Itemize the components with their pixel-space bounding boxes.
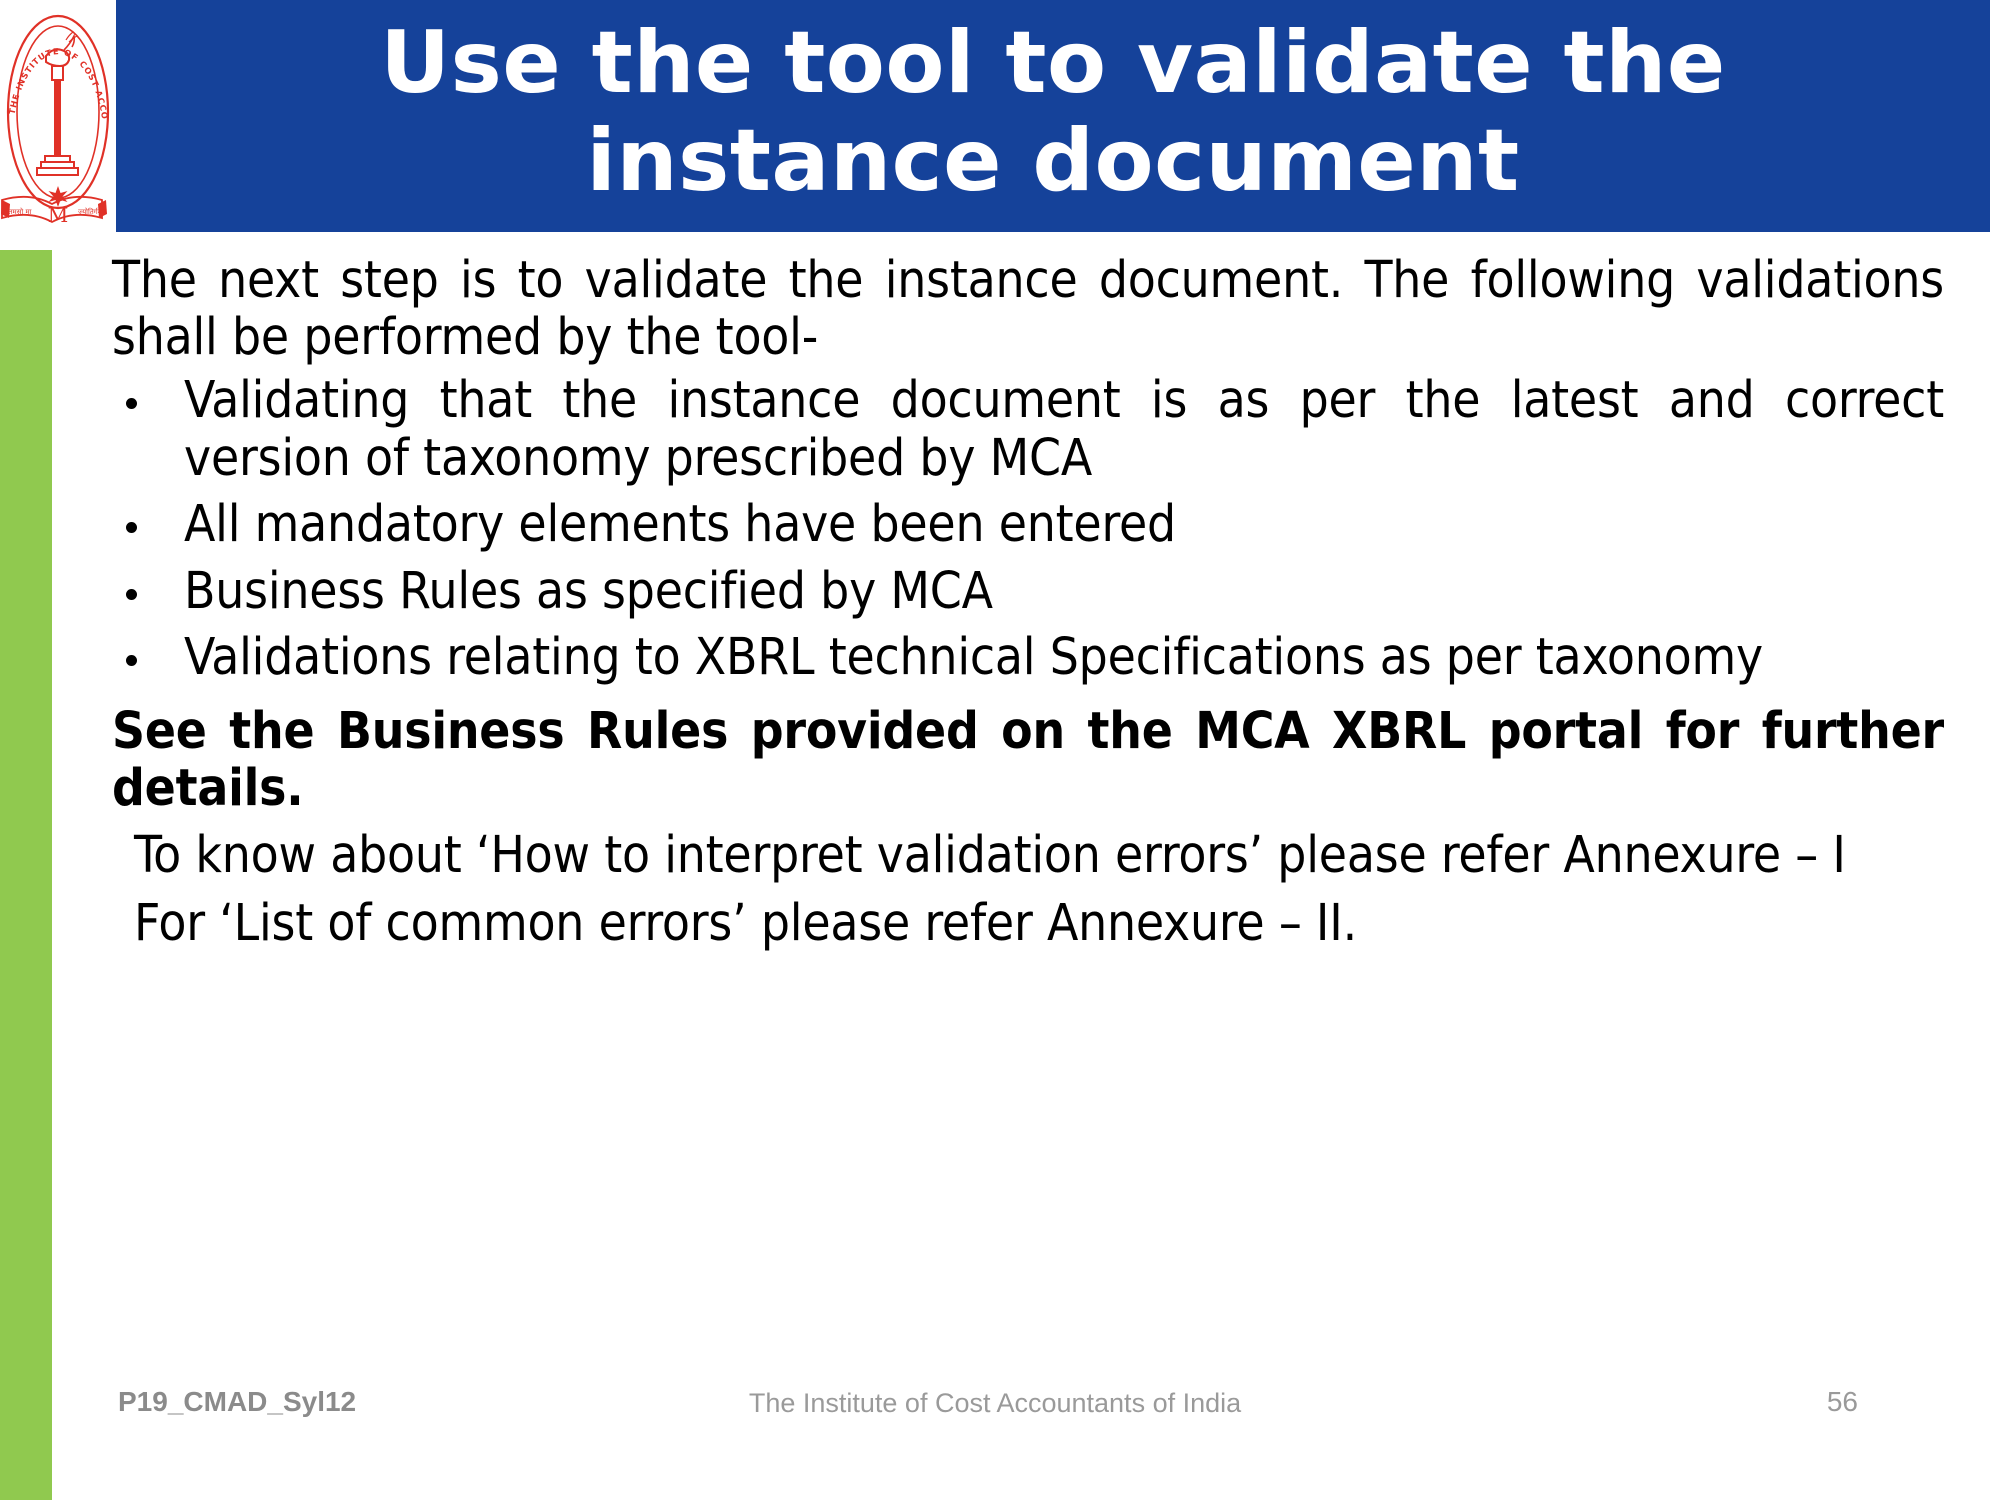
list-item: All mandatory elements have been entered [112, 496, 1944, 554]
list-item: Business Rules as specified by MCA [112, 563, 1944, 621]
note-annexure-i: To know about ‘How to interpret validati… [134, 827, 1944, 885]
validation-bullet-list: Validating that the instance document is… [112, 372, 1944, 687]
note-annexure-ii: For ‘List of common errors’ please refer… [134, 895, 1944, 953]
footer-organization: The Institute of Cost Accountants of Ind… [0, 1388, 1990, 1419]
svg-text:ज्योतिर्गमय: ज्योतिर्गमय [78, 207, 107, 216]
intro-paragraph: The next step is to validate the instanc… [112, 252, 1944, 366]
slide-footer: P19_CMAD_Syl12 The Institute of Cost Acc… [0, 1386, 1990, 1436]
footer-page-number: 56 [1827, 1386, 1858, 1418]
green-accent-bar [0, 250, 52, 1500]
slide-body: The next step is to validate the instanc… [112, 252, 1944, 953]
svg-text:M: M [48, 203, 68, 227]
institute-logo: THE INSTITUTE OF COST ACCOUNTANTS OF IND… [0, 0, 118, 232]
emphasis-paragraph: See the Business Rules provided on the M… [112, 703, 1944, 817]
slide-title: Use the tool to validate the instance do… [116, 14, 1990, 218]
list-item: Validations relating to XBRL technical S… [112, 629, 1944, 687]
slide-title-band: Use the tool to validate the instance do… [116, 0, 1990, 232]
seal-icon: THE INSTITUTE OF COST ACCOUNTANTS OF IND… [0, 0, 116, 232]
svg-text:तमसो मा: तमसो मा [9, 207, 32, 216]
list-item: Validating that the instance document is… [112, 372, 1944, 488]
